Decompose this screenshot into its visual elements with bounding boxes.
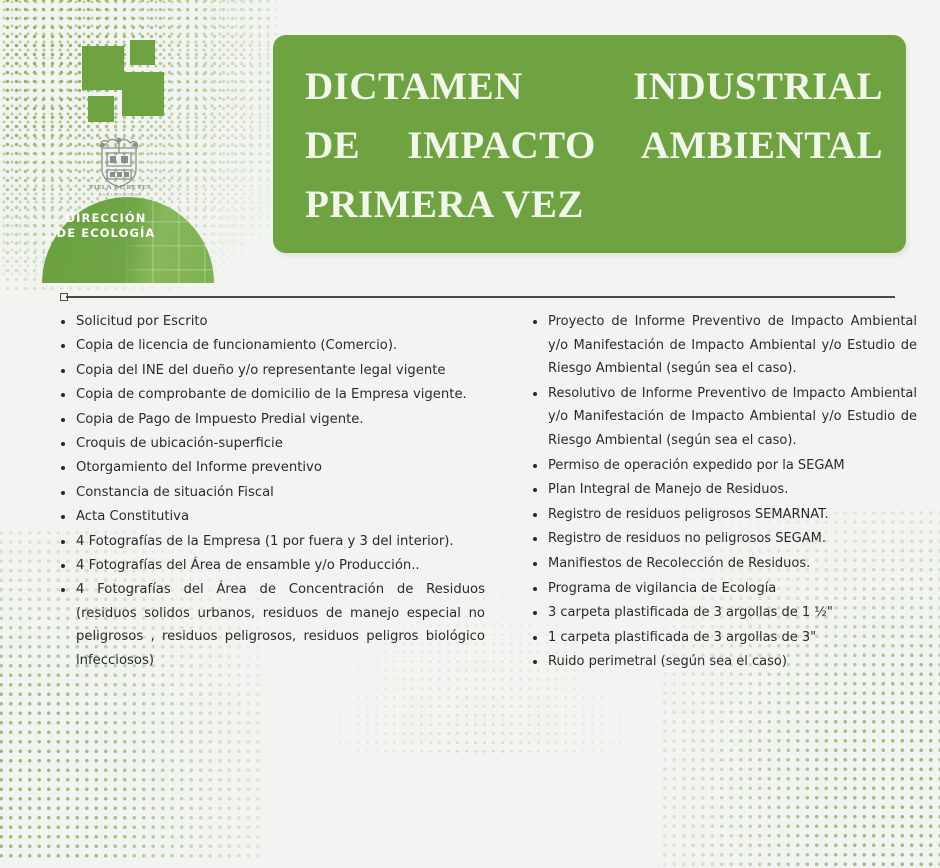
requirement-item: 4 Fotografías de la Empresa (1 por fuera… <box>55 530 485 553</box>
requirement-item: Permiso de operación expedido por la SEG… <box>527 454 917 478</box>
requirement-item: Ruido perimetral (según sea el caso) <box>527 650 917 674</box>
requirement-item: Copia de Pago de Impuesto Predial vigent… <box>55 408 485 431</box>
requirement-item: Copia de licencia de funcionamiento (Com… <box>55 334 485 357</box>
department-label-line2: DE ECOLOGÍA <box>42 226 170 241</box>
requirement-item: Plan Integral de Manejo de Residuos. <box>527 478 917 502</box>
green-squares-logo-icon <box>82 40 192 132</box>
requirement-item: Otorgamiento del Informe preventivo <box>55 456 485 479</box>
document-header: VILLA DE REYES SAN LUIS POTOSÍ DIRECCIÓN… <box>0 0 940 270</box>
requirements-list-left: Solicitud por EscritoCopia de licencia d… <box>55 310 485 672</box>
coat-of-arms-icon <box>88 130 150 192</box>
title-line-1: DICTAMEN INDUSTRIAL <box>305 57 883 116</box>
crest-municipality-name: VILLA DE REYES <box>70 184 170 191</box>
requirement-item: 4 Fotografías del Área de ensamble y/o P… <box>55 554 485 577</box>
title-line-3: PRIMERA VEZ <box>305 175 883 234</box>
requirements-column-right: Proyecto de Informe Preventivo de Impact… <box>527 310 917 675</box>
logo-square-1 <box>82 46 124 90</box>
requirement-item: Croquis de ubicación-superficie <box>55 432 485 455</box>
requirement-item: Manifiestos de Recolección de Residuos. <box>527 552 917 576</box>
department-label-line1: DIRECCIÓN <box>42 211 170 226</box>
requirements-column-left: Solicitud por EscritoCopia de licencia d… <box>55 310 485 675</box>
requirements-list-right: Proyecto de Informe Preventivo de Impact… <box>527 310 917 674</box>
requirement-item: Registro de residuos no peligrosos SEGAM… <box>527 527 917 551</box>
requirement-item: 1 carpeta plastificada de 3 argollas de … <box>527 626 917 650</box>
institution-logo-block: VILLA DE REYES SAN LUIS POTOSÍ DIRECCIÓN… <box>0 0 255 270</box>
title-line-2: DE IMPACTO AMBIENTAL <box>305 116 883 175</box>
divider-rule <box>66 296 895 298</box>
requirement-item: 3 carpeta plastificada de 3 argollas de … <box>527 601 917 625</box>
logo-square-3 <box>88 96 114 122</box>
requirement-item: Programa de vigilancia de Ecología <box>527 577 917 601</box>
requirement-item: Resolutivo de Informe Preventivo de Impa… <box>527 382 917 453</box>
ecology-department-badge: DIRECCIÓN DE ECOLOGÍA <box>42 197 214 283</box>
requirement-item: Registro de residuos peligrosos SEMARNAT… <box>527 503 917 527</box>
requirement-item: 4 Fotografías del Área de Concentración … <box>55 578 485 672</box>
logo-square-4 <box>122 72 164 116</box>
requirement-item: Constancia de situación Fiscal <box>55 481 485 504</box>
requirement-item: Copia del INE del dueño y/o representant… <box>55 359 485 382</box>
requirement-item: Copia de comprobante de domicilio de la … <box>55 383 485 406</box>
requirements-section: Solicitud por EscritoCopia de licencia d… <box>0 310 940 675</box>
document-title-banner: DICTAMEN INDUSTRIAL DE IMPACTO AMBIENTAL… <box>273 35 906 253</box>
section-divider <box>60 292 895 302</box>
requirement-item: Proyecto de Informe Preventivo de Impact… <box>527 310 917 381</box>
page-title: DICTAMEN INDUSTRIAL DE IMPACTO AMBIENTAL… <box>305 57 883 234</box>
requirement-item: Solicitud por Escrito <box>55 310 485 333</box>
logo-square-2 <box>130 40 155 65</box>
requirement-item: Acta Constitutiva <box>55 505 485 528</box>
